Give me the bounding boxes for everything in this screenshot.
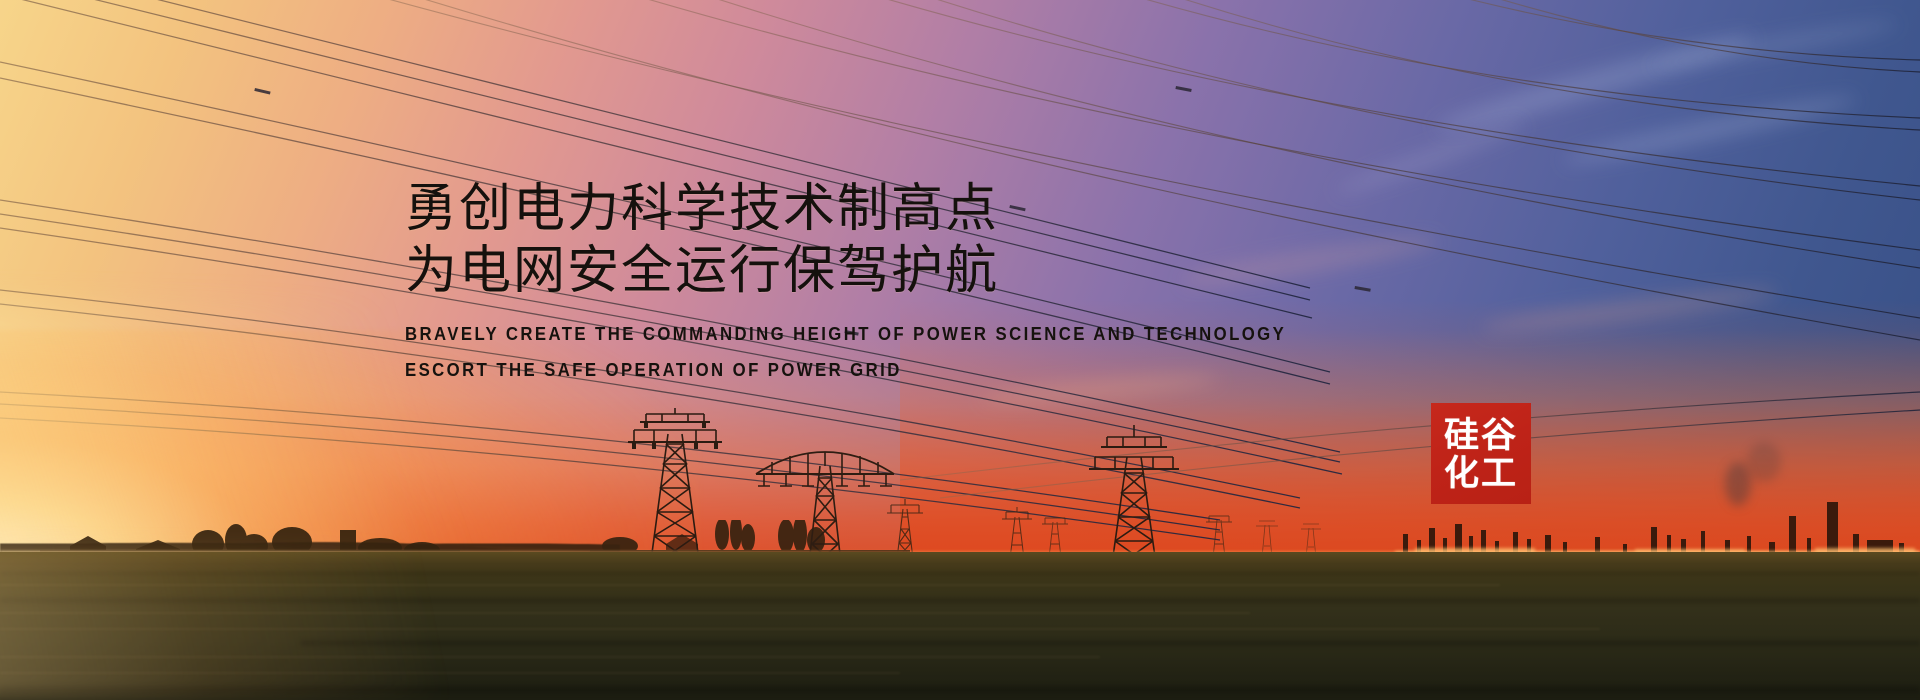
- headline-text-block: 勇创电力科学技术制高点 为电网安全运行保驾护航 BRAVELY CREATE T…: [405, 178, 1405, 388]
- headline-chinese-line-2: 为电网安全运行保驾护航: [405, 240, 1405, 302]
- refinery-silhouette: [1395, 500, 1920, 558]
- company-logo-line-1: 硅谷: [1444, 416, 1518, 456]
- headline-chinese-line-1: 勇创电力科学技术制高点: [405, 178, 1405, 240]
- transmission-tower-left: [620, 408, 730, 568]
- ground-sun-glow: [0, 548, 640, 700]
- company-logo-stamp[interactable]: 硅谷 化工: [1431, 403, 1531, 504]
- company-logo-inner: 硅谷 化工: [1431, 403, 1531, 504]
- hero-banner: 勇创电力科学技术制高点 为电网安全运行保驾护航 BRAVELY CREATE T…: [0, 0, 1920, 700]
- transmission-tower-right: [1085, 423, 1183, 571]
- headline-english-line-2: ESCORT THE SAFE OPERATION OF POWER GRID: [405, 352, 1335, 388]
- transmission-tower-distant: [885, 497, 925, 559]
- headline-english-line-1: BRAVELY CREATE THE COMMANDING HEIGHT OF …: [405, 316, 1335, 352]
- company-logo-line-2: 化工: [1444, 454, 1518, 494]
